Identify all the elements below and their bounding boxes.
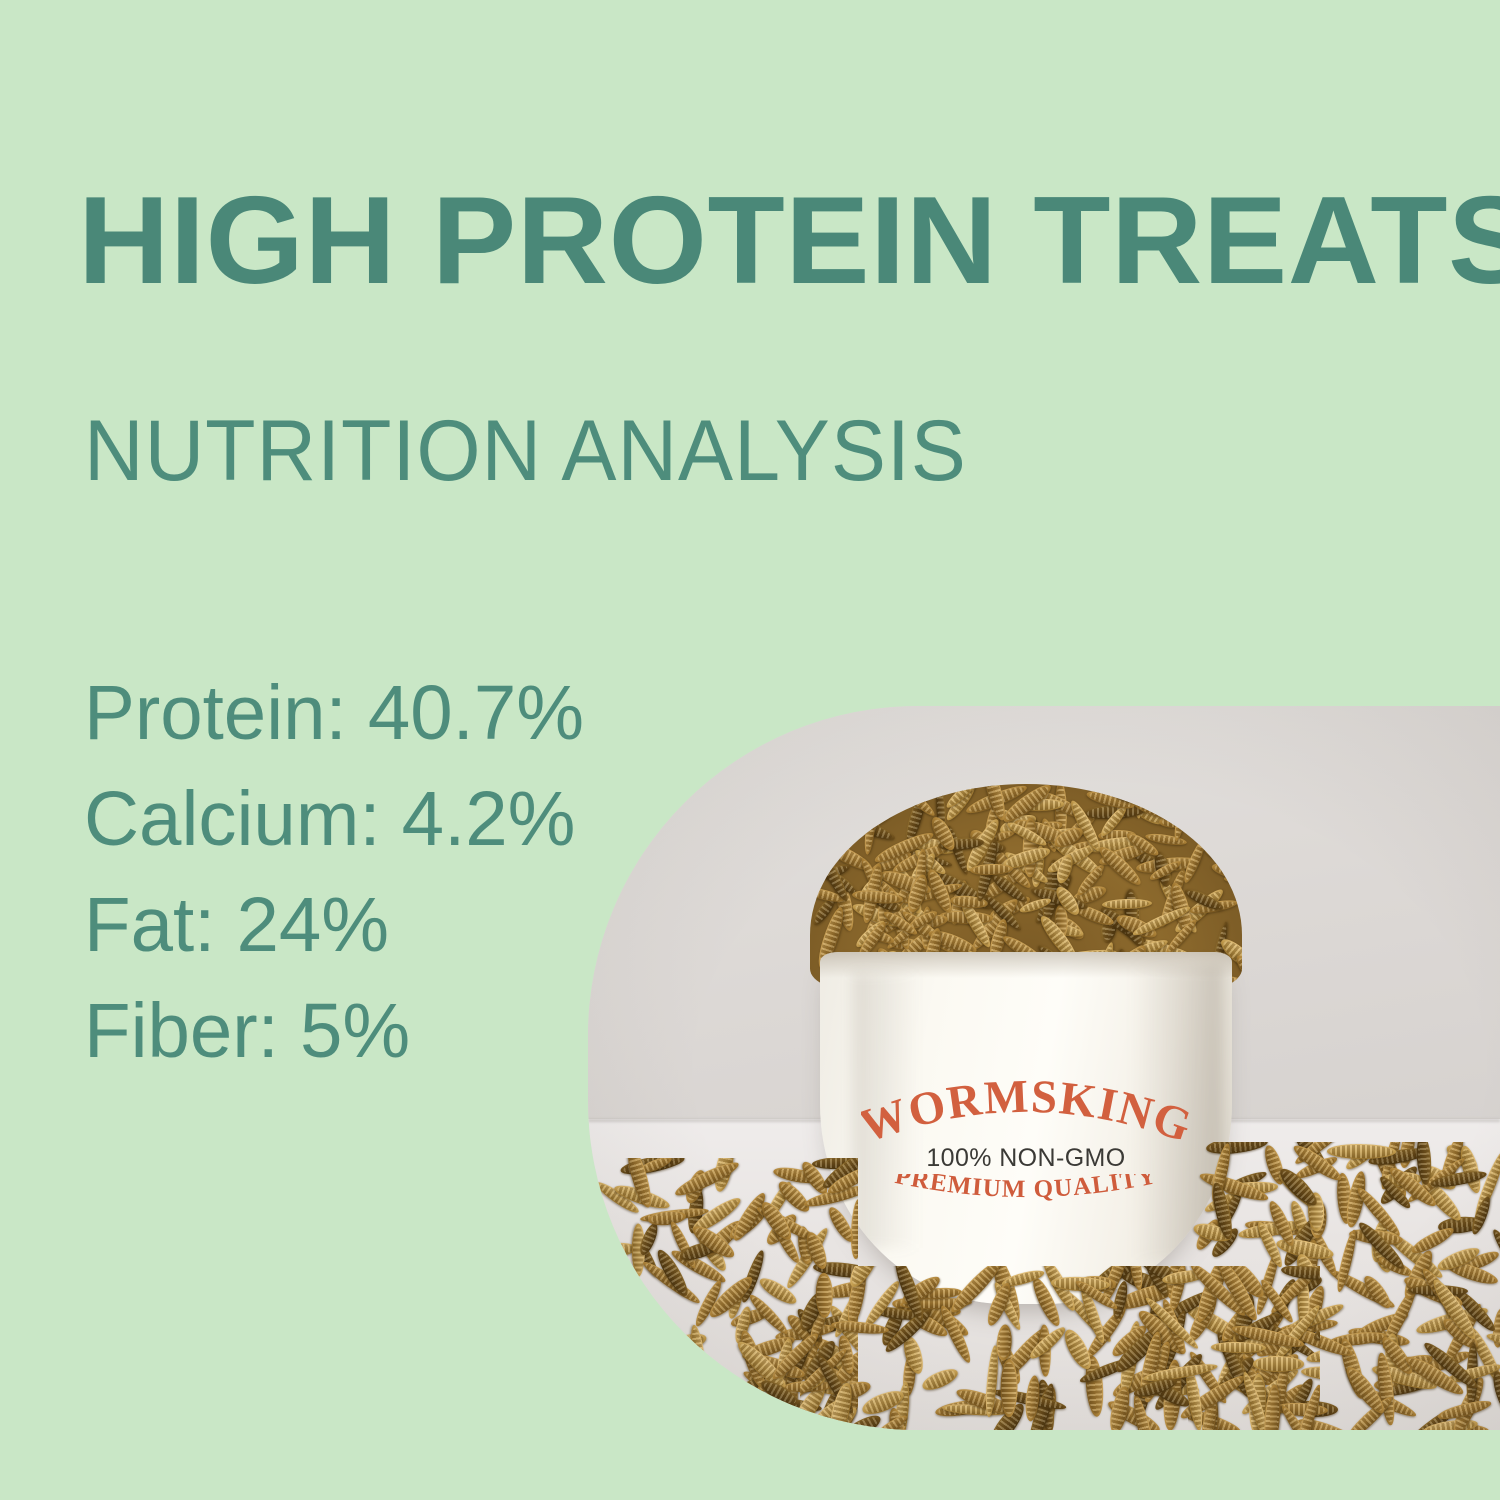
larva <box>631 1316 668 1331</box>
larva <box>831 1319 889 1336</box>
larva <box>1300 1364 1320 1383</box>
larva <box>672 1158 741 1200</box>
nutrition-item-fiber: Fiber: 5% <box>84 978 584 1084</box>
section-subtitle: NUTRITION ANALYSIS <box>84 408 967 494</box>
larva <box>1022 817 1037 877</box>
larva <box>1409 1223 1457 1257</box>
larva <box>1253 1356 1304 1371</box>
nutrition-item-fat: Fat: 24% <box>84 872 584 978</box>
larva <box>815 1272 833 1317</box>
larva <box>919 1365 960 1394</box>
product-photo: WORMSKING 100% NON-GMO PREMIUM QUALITY <box>588 706 1500 1430</box>
larva <box>1469 1195 1493 1236</box>
larva <box>687 1324 708 1388</box>
larva <box>1211 1341 1266 1353</box>
larva <box>1327 1144 1396 1159</box>
brand-banner-text: PREMIUM QUALITY <box>893 1174 1159 1203</box>
product-bowl: WORMSKING 100% NON-GMO PREMIUM QUALITY <box>820 952 1232 1304</box>
bowl-highlight-left <box>853 973 919 1248</box>
larva <box>1102 898 1152 910</box>
larva <box>1457 1144 1485 1195</box>
page-title: HIGH PROTEIN TREATS <box>78 178 1500 304</box>
nutrition-list: Protein: 40.7% Calcium: 4.2% Fat: 24% Fi… <box>84 660 589 1084</box>
larvae-scatter-front <box>800 1266 1320 1430</box>
larva <box>1305 1341 1320 1366</box>
larva <box>601 1274 639 1329</box>
nutrition-item-calcium: Calcium: 4.2% <box>84 766 584 872</box>
infographic-canvas: HIGH PROTEIN TREATS NUTRITION ANALYSIS P… <box>0 0 1500 1500</box>
larva <box>1205 1142 1268 1156</box>
svg-text:PREMIUM QUALITY: PREMIUM QUALITY <box>893 1174 1159 1203</box>
larva <box>596 1241 637 1258</box>
larva <box>648 1209 688 1227</box>
nutrition-item-protein: Protein: 40.7% <box>84 660 584 766</box>
